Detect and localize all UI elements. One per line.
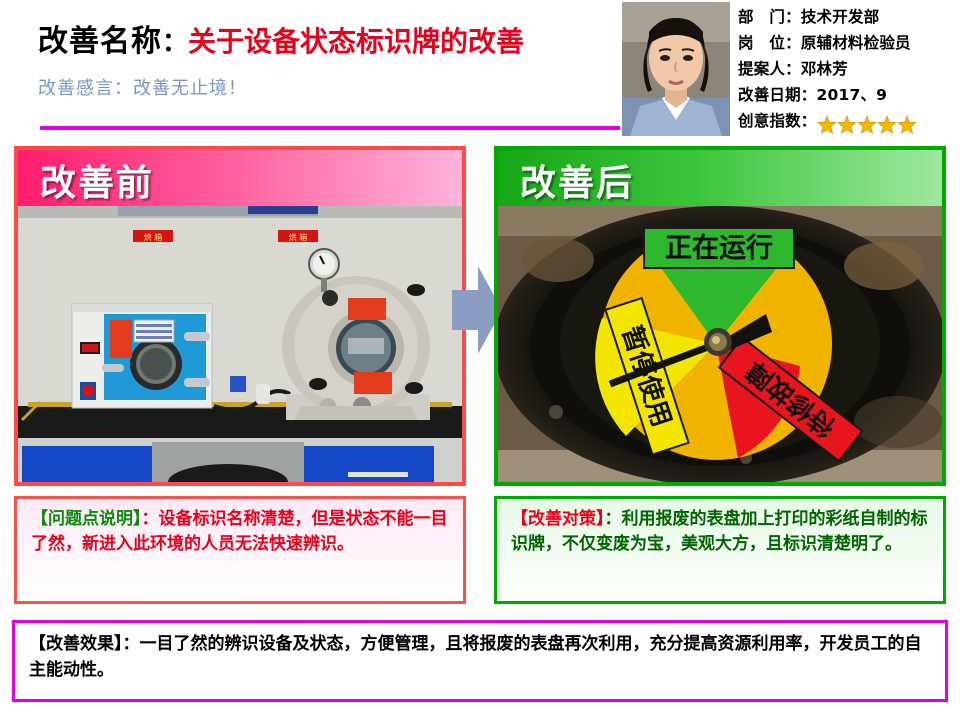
panel-before-heading: 改善前	[40, 154, 154, 206]
gauge-label-running: 正在运行	[644, 228, 794, 268]
svg-text:烘 箱: 烘 箱	[144, 232, 163, 242]
info-row-position: 岗 位：原辅材料检验员	[738, 30, 960, 56]
problem-tag: 【问题点说明】	[31, 509, 142, 529]
panel-after-heading: 改善后	[520, 154, 634, 206]
star-icon	[817, 115, 837, 135]
title-value: 关于设备状态标识牌的改善	[188, 25, 524, 58]
header: 改善名称：关于设备状态标识牌的改善 改善感言：改善无止境！	[0, 0, 960, 142]
page-title: 改善名称：关于设备状态标识牌的改善	[38, 26, 628, 58]
info-row-proposer: 提案人：邓林芳	[738, 56, 960, 82]
star-icon	[857, 115, 877, 135]
proposer-photo	[622, 2, 730, 136]
date-label: 改善日期：	[738, 86, 817, 104]
panel-after-photo: 正在运行 暂停使用 待修故障	[498, 206, 942, 482]
svg-text:烘 箱: 烘 箱	[289, 232, 308, 242]
proposer-label: 提案人：	[738, 60, 801, 78]
proposal-info: 部 门：技术开发部 岗 位：原辅材料检验员 提案人：邓林芳 改善日期：2017、…	[738, 4, 960, 137]
info-row-date: 改善日期：2017、9	[738, 82, 960, 108]
department-value: 技术开发部	[801, 8, 880, 26]
star-icon	[877, 115, 897, 135]
star-icon	[837, 115, 857, 135]
department-label: 部 门：	[738, 8, 801, 26]
rating-label: 创意指数：	[738, 112, 817, 130]
panel-after-header: 改善后	[498, 150, 942, 206]
svg-text:正在运行: 正在运行	[665, 232, 773, 264]
star-icon	[897, 115, 917, 135]
title-label: 改善名称	[38, 24, 162, 59]
info-row-department: 部 门：技术开发部	[738, 4, 960, 30]
position-label: 岗 位：	[738, 34, 801, 52]
info-row-rating: 创意指数：	[738, 108, 960, 137]
panel-before-header: 改善前	[18, 150, 462, 206]
title-colon: ：	[162, 28, 188, 58]
rating-stars	[817, 111, 917, 137]
subtitle: 改善感言：改善无止境！	[38, 74, 628, 100]
title-divider	[40, 126, 620, 130]
countermeasure-separator: ：	[605, 509, 622, 529]
countermeasure-note: 【改善对策】：利用报废的表盘加上打印的彩纸自制的标识牌，不仅变废为宝，美观大方，…	[494, 496, 946, 604]
panel-before: 改善前 烘 箱 烘 箱	[14, 146, 466, 486]
panel-after: 改善后	[494, 146, 946, 486]
problem-separator: ：	[142, 509, 159, 529]
countermeasure-tag: 【改善对策】	[511, 509, 605, 529]
proposer-value: 邓林芳	[801, 60, 848, 78]
title-block: 改善名称：关于设备状态标识牌的改善 改善感言：改善无止境！	[38, 26, 628, 100]
problem-note: 【问题点说明】：设备标识名称清楚，但是状态不能一目了然，新进入此环境的人员无法快…	[14, 496, 466, 604]
effect-note: 【改善效果】：一目了然的辨识设备及状态，方便管理，且将报废的表盘再次利用，充分提…	[12, 620, 948, 702]
position-value: 原辅材料检验员	[801, 34, 911, 52]
panel-before-photo: 烘 箱 烘 箱	[18, 206, 462, 482]
date-value: 2017、9	[817, 86, 888, 104]
effect-separator: ：	[123, 634, 140, 654]
effect-tag: 【改善效果】	[29, 634, 123, 654]
effect-body: 一目了然的辨识设备及状态，方便管理，且将报废的表盘再次利用，充分提高资源利用率，…	[29, 634, 922, 680]
